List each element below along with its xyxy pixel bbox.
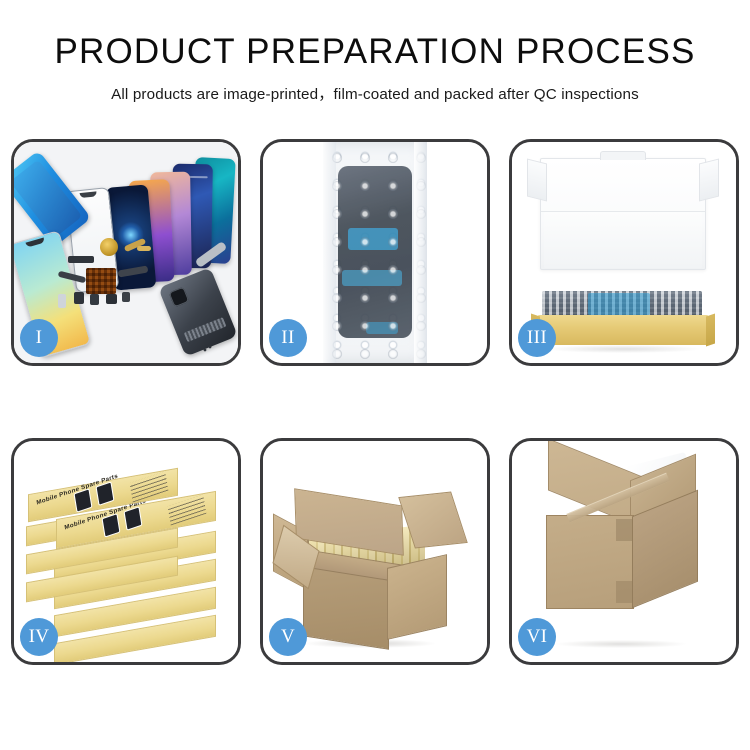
product-preparation-infographic: PRODUCT PREPARATION PROCESS All products… [0, 0, 750, 750]
carton-face-front [303, 566, 389, 650]
sleeve-edge-left [323, 142, 336, 363]
spare-part-module-1 [74, 292, 84, 304]
step-panel-4[interactable]: Mobile Phone Spare Parts Mobile Phone Sp… [11, 438, 241, 665]
carton-face-side [387, 554, 447, 640]
step-panel-2[interactable]: II [260, 139, 490, 366]
steps-grid: I II [11, 139, 739, 695]
spare-part-screws [200, 341, 216, 353]
label-window-1 [102, 513, 121, 537]
carton-handle-notch-top [616, 519, 632, 541]
spare-part-earpiece [68, 256, 94, 263]
box-shadow [548, 345, 700, 353]
label-spec-lines [168, 494, 207, 525]
spare-part-module-3 [106, 294, 117, 304]
foam-insert [544, 212, 702, 268]
spare-part-coil [100, 238, 118, 256]
step-badge-1: I [20, 319, 58, 357]
step-panel-5[interactable]: V [260, 438, 490, 665]
step-badge-4: IV [20, 618, 58, 656]
step-panel-6[interactable]: VI [509, 438, 739, 665]
sleeve-edge-right [414, 142, 427, 363]
mailer-box-base [538, 315, 708, 345]
step-badge-5: V [269, 618, 307, 656]
spare-part-chip-grid [86, 268, 116, 294]
label-window-2 [124, 506, 143, 530]
spare-part-connector [137, 246, 151, 251]
spare-part-sim-tray [58, 294, 66, 308]
step-panel-3[interactable]: III [509, 139, 739, 366]
header: PRODUCT PREPARATION PROCESS All products… [0, 0, 750, 104]
spare-part-module-4 [122, 292, 130, 302]
label-window-3 [74, 488, 93, 512]
carton-handle-notch-bottom [616, 581, 632, 603]
step-panel-1[interactable]: I [11, 139, 241, 366]
page-title: PRODUCT PREPARATION PROCESS [0, 34, 750, 71]
step-badge-6: VI [518, 618, 556, 656]
label-spec-lines-2 [130, 471, 169, 502]
step-badge-3: III [518, 319, 556, 357]
wrapped-phone-part [338, 166, 412, 338]
label-window-4 [96, 481, 115, 505]
carton-shadow-6 [556, 640, 686, 648]
step-badge-2: II [269, 319, 307, 357]
spare-part-module-2 [90, 294, 99, 305]
page-subtitle: All products are image-printed，film-coat… [0, 82, 750, 104]
